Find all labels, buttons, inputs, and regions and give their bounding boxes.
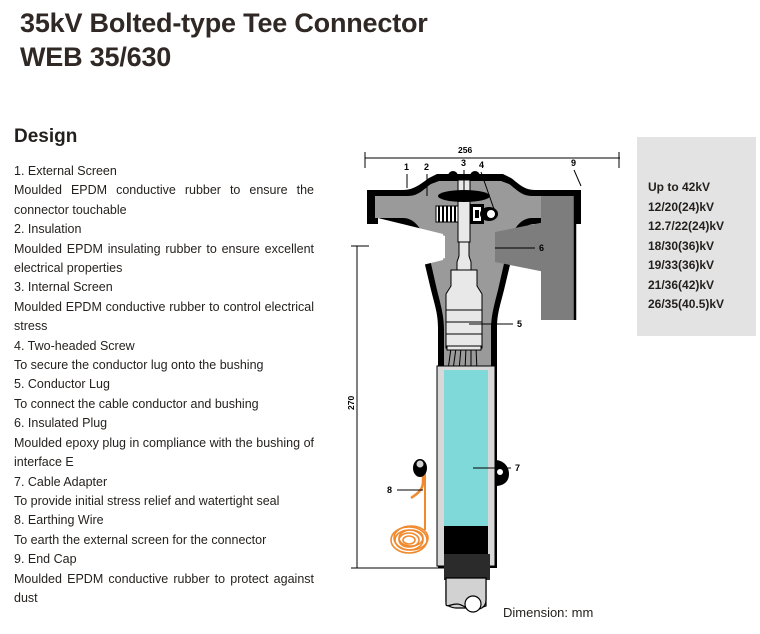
design-item: 1. External ScreenMoulded EPDM conductiv… <box>14 162 314 220</box>
design-item: 7. Cable AdapterTo provide initial stres… <box>14 473 314 512</box>
page-title-line-2: WEB 35/630 <box>20 40 580 74</box>
connector-cross-section-drawing: 256 270 <box>345 138 620 618</box>
callout-8: 8 <box>387 485 392 495</box>
design-heading: Design <box>14 126 314 148</box>
callout-9: 9 <box>571 158 576 168</box>
threaded-sleeve <box>436 206 458 222</box>
design-item-description: To earth the external screen for the con… <box>14 531 314 550</box>
dimension-height-label: 270 <box>346 396 356 410</box>
page-title: 35kV Bolted-type Tee Connector WEB 35/63… <box>20 6 580 74</box>
callout-3: 3 <box>461 158 466 168</box>
voltage-rating-line: 21/36(42)kV <box>648 276 724 296</box>
insulated-plug-body <box>541 196 575 320</box>
cable <box>444 554 490 612</box>
design-item-list: 1. External ScreenMoulded EPDM conductiv… <box>14 162 314 608</box>
design-item-description: To connect the cable conductor and bushi… <box>14 395 314 414</box>
design-item-name: 4. Two-headed Screw <box>14 337 314 356</box>
callout-7: 7 <box>515 463 520 473</box>
design-item-name: 7. Cable Adapter <box>14 473 314 492</box>
design-item-name: 1. External Screen <box>14 162 314 181</box>
cable-adapter <box>437 366 495 566</box>
design-item-name: 9. End Cap <box>14 550 314 569</box>
callout-6: 6 <box>539 243 544 253</box>
design-item: 6. Insulated PlugMoulded epoxy plug in c… <box>14 414 314 472</box>
design-section: Design 1. External ScreenMoulded EPDM co… <box>14 126 314 608</box>
design-item: 4. Two-headed ScrewTo secure the conduct… <box>14 337 314 376</box>
callout-5: 5 <box>517 319 522 329</box>
design-item-description: Moulded EPDM insulating rubber to ensure… <box>14 240 314 279</box>
callout-2: 2 <box>424 162 429 172</box>
voltage-ratings-panel: Up to 42kV12/20(24)kV12.7/22(24)kV18/30(… <box>637 137 756 336</box>
callout-1: 1 <box>404 162 409 172</box>
design-item-name: 5. Conductor Lug <box>14 375 314 394</box>
voltage-ratings-list: Up to 42kV12/20(24)kV12.7/22(24)kV18/30(… <box>648 178 724 315</box>
design-item: 5. Conductor LugTo connect the cable con… <box>14 375 314 414</box>
voltage-rating-line: 12/20(24)kV <box>648 198 724 218</box>
design-item-name: 8. Earthing Wire <box>14 511 314 530</box>
design-item: 2. InsulationMoulded EPDM insulating rub… <box>14 220 314 278</box>
design-item-description: Moulded EPDM conductive rubber to protec… <box>14 570 314 609</box>
design-item-name: 3. Internal Screen <box>14 278 314 297</box>
design-item: 3. Internal ScreenMoulded EPDM conductiv… <box>14 278 314 336</box>
bushing-neck <box>457 242 471 272</box>
voltage-rating-line: 26/35(40.5)kV <box>648 295 724 315</box>
design-item-description: Moulded epoxy plug in compliance with th… <box>14 434 314 473</box>
page-title-line-1: 35kV Bolted-type Tee Connector <box>20 6 580 40</box>
voltage-rating-line: 18/30(36)kV <box>648 237 724 257</box>
dimension-unit-caption: Dimension: mm <box>503 605 593 620</box>
design-item-description: Moulded EPDM conductive rubber to ensure… <box>14 181 314 220</box>
design-item-description: To secure the conductor lug onto the bus… <box>14 356 314 375</box>
voltage-rating-line: Up to 42kV <box>648 178 724 198</box>
design-item: 9. End CapMoulded EPDM conductive rubber… <box>14 550 314 608</box>
design-item-description: Moulded EPDM conductive rubber to contro… <box>14 298 314 337</box>
voltage-rating-line: 12.7/22(24)kV <box>648 217 724 237</box>
design-item-description: To provide initial stress relief and wat… <box>14 492 314 511</box>
voltage-rating-line: 19/33(36)kV <box>648 256 724 276</box>
design-item-name: 6. Insulated Plug <box>14 414 314 433</box>
callout-4: 4 <box>479 160 484 170</box>
design-item: 8. Earthing WireTo earth the external sc… <box>14 511 314 550</box>
design-item-name: 2. Insulation <box>14 220 314 239</box>
dimension-width-label: 256 <box>458 145 472 155</box>
